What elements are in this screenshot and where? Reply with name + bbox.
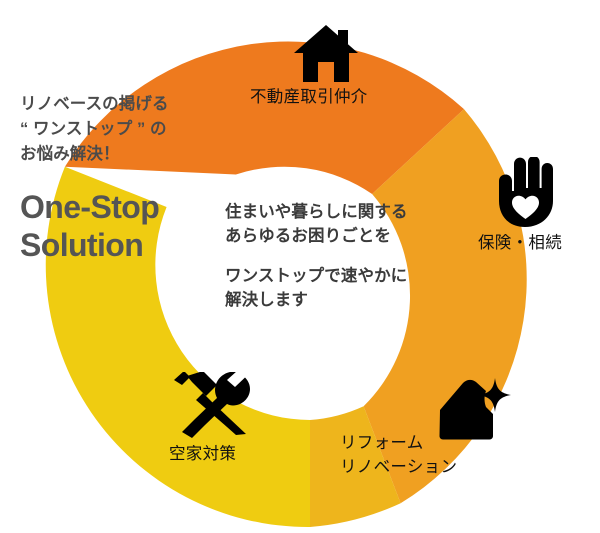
center-para1-line2: あらゆるお困りごとを bbox=[225, 224, 455, 248]
center-para1-line1: 住まいや暮らしに関する bbox=[225, 200, 455, 224]
segment-label-vacant-house: 空家対策 bbox=[169, 443, 236, 467]
segment-label-insurance: 保険・相続 bbox=[478, 232, 562, 256]
page-title-line-1: One-Stop bbox=[20, 189, 235, 227]
segment-label-vacant-house-text: 空家対策 bbox=[169, 443, 236, 467]
segment-label-real-estate-text: 不動産取引仲介 bbox=[250, 86, 368, 110]
lead-line-1: リノベースの掲げる bbox=[20, 92, 235, 117]
center-para2-line1: ワンストップで速やかに bbox=[225, 264, 455, 288]
page-title-line-2: Solution bbox=[20, 227, 235, 265]
center-para2-line2: 解決します bbox=[225, 288, 455, 312]
lead-line-2: “ ワンストップ ” の bbox=[20, 117, 235, 142]
house-icon bbox=[293, 24, 359, 89]
segment-label-reform: リフォーム リノベーション bbox=[340, 432, 457, 480]
diagram-canvas: 不動産取引仲介 保険・相続 リフォーム リノベーション 空家対策 リノベースの掲… bbox=[0, 0, 600, 533]
hand-heart-icon bbox=[496, 157, 554, 232]
segment-label-reform-line2: リノベーション bbox=[340, 456, 457, 480]
segment-label-reform-line1: リフォーム bbox=[340, 432, 457, 456]
center-description-block: 住まいや暮らしに関する あらゆるお困りごとを ワンストップで速やかに 解決します bbox=[225, 200, 455, 313]
segment-label-real-estate: 不動産取引仲介 bbox=[250, 86, 368, 110]
left-headline-block: リノベースの掲げる “ ワンストップ ” の お悩み解決！ One-Stop S… bbox=[20, 92, 235, 265]
hammer-wrench-icon bbox=[170, 372, 256, 443]
segment-label-insurance-text: 保険・相続 bbox=[478, 232, 562, 256]
page-title: One-Stop Solution bbox=[20, 189, 235, 265]
lead-line-3: お悩み解決！ bbox=[20, 142, 235, 167]
